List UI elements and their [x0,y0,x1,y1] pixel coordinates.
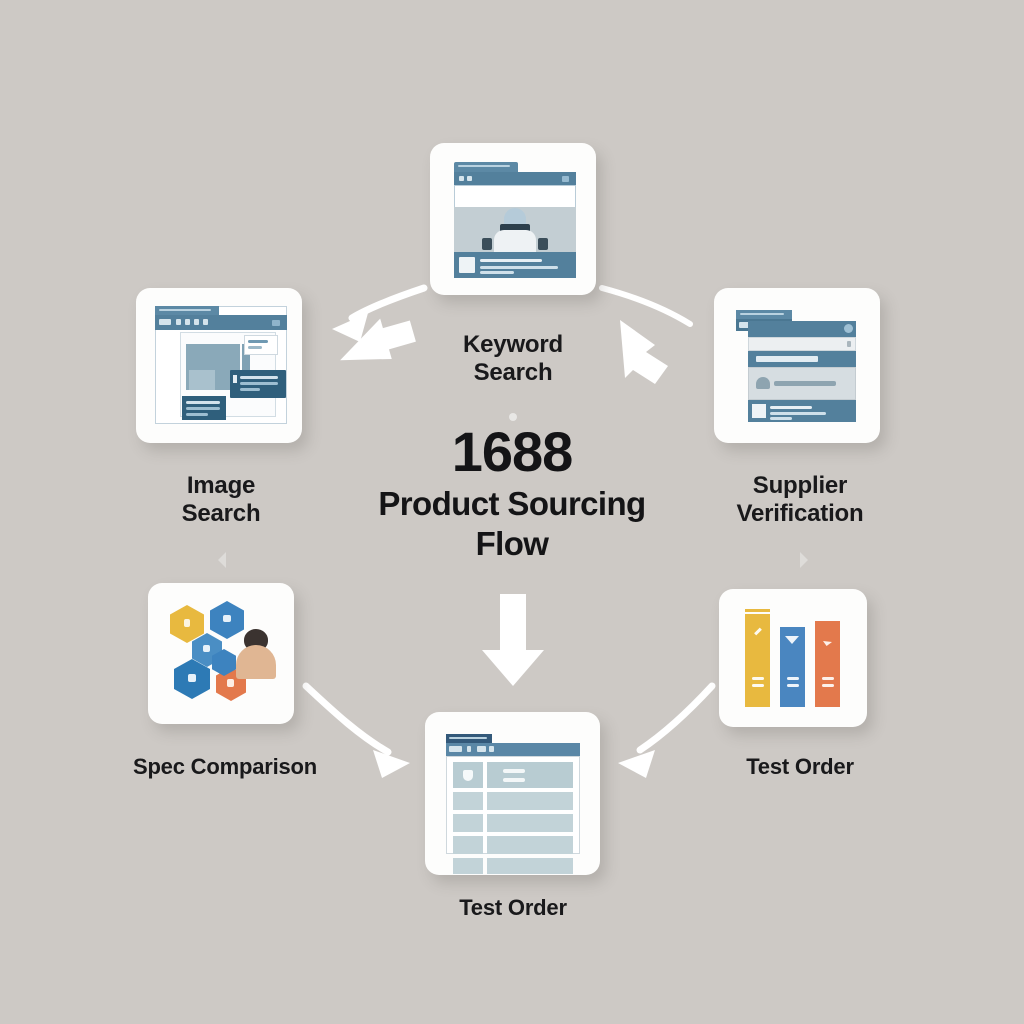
footer-thumb [752,404,766,418]
search-bar[interactable] [748,337,856,351]
label-test-order-bottom: Test Order [413,895,613,921]
person-body-icon [236,645,276,679]
table-row-4-body [487,836,573,854]
center-title-group: 1688 Product Sourcing Flow [282,424,742,565]
arrow-straight-right-up [620,320,668,384]
hexagon-glyph-5 [227,679,234,687]
node-card-test-order-bottom[interactable] [425,712,600,875]
label-keyword-search: Keyword Search [413,331,613,387]
table-row-3-body [487,814,573,832]
diagram-canvas: Keyword Search [0,0,1024,1024]
image-thumb-panel [189,370,215,390]
thumbnail-box [459,257,475,273]
node-card-supplier-verification[interactable] [714,288,880,443]
browser-tab-strip [454,162,518,172]
bar-orange [815,621,840,707]
table-row-5-body [487,858,573,874]
info-card-right-icon [233,375,237,383]
table-list-illustration [425,712,600,875]
arrow-curve-bottomright-to-center [618,686,712,778]
table-row-2-body [487,792,573,810]
arrow-center-down [482,594,544,686]
node-card-keyword-search[interactable] [430,143,596,295]
supplier-avatar-shape [756,377,770,389]
bar-chart-illustration [719,589,867,727]
chevron-left-icon [218,552,226,568]
image-search-illustration [136,288,302,443]
table-row-3-thumb [453,814,483,832]
table-row-4-thumb [453,836,483,854]
shield-icon [463,770,473,781]
spec-comparison-illustration [148,583,294,724]
node-card-image-search[interactable] [136,288,302,443]
hexagon-glyph-2 [223,615,231,622]
sv-browser-toolbar [748,321,856,337]
center-number: 1688 [282,424,742,480]
bar-yellow-cap [745,612,770,614]
supplier-verification-illustration [714,288,880,443]
desk-right-object [538,238,548,250]
table-row-1-body [487,762,573,788]
arrow-straight-left-up [332,311,419,373]
center-subtitle-line2: Flow [282,524,742,564]
table-row-2-thumb [453,792,483,810]
hexagon-glyph-4 [188,674,196,682]
person-torso-shape [494,230,536,252]
node-card-spec-comparison[interactable] [148,583,294,724]
arrow-curve-top-to-left [332,288,424,342]
back-browser-toolbar [155,315,287,330]
label-test-order-right: Test Order [700,754,900,780]
chevron-right-icon [800,552,808,568]
hexagon-glyph-3 [203,645,210,652]
callout-popup [244,335,278,355]
bar-yellow [745,609,770,707]
table-row-5-thumb [453,858,483,874]
browser-toolbar [454,172,576,185]
label-spec-comparison: Spec Comparison [105,754,345,780]
node-card-test-order-right[interactable] [719,589,867,727]
center-subtitle-line1: Product Sourcing [282,484,742,524]
keyword-search-illustration [430,143,596,295]
hexagon-glyph-1 [184,619,190,627]
arrow-curve-top-to-right [602,288,690,324]
desk-left-object [482,238,492,250]
